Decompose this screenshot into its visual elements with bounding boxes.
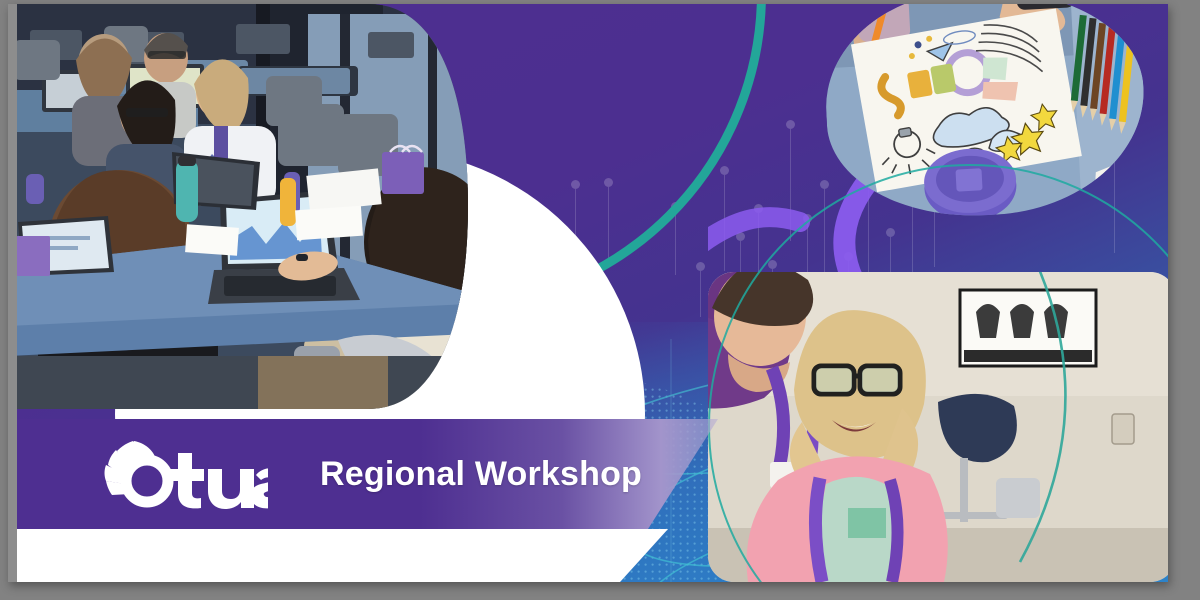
promotional-banner: Regional Workshop [0, 0, 1200, 600]
left-edge-shadow [8, 4, 17, 582]
photo-workshop-attendees-laptops [8, 4, 468, 409]
bottom-white-strip [8, 529, 668, 582]
banner-card: Regional Workshop [8, 4, 1168, 582]
otus-logo [100, 439, 268, 509]
title-content-row: Regional Workshop [8, 419, 718, 529]
page-title: Regional Workshop [320, 455, 642, 494]
